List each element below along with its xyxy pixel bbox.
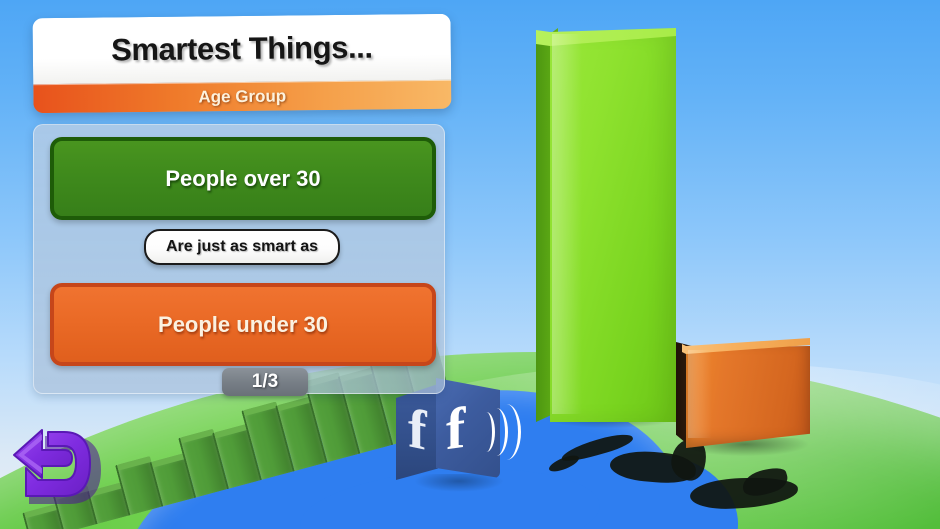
bar-front-face (550, 32, 676, 422)
category-label: Age Group (198, 87, 286, 108)
broadcast-waves-icon (478, 406, 506, 460)
bar-highlight (688, 350, 712, 438)
game-screen: f f Smartest Things... Age Group People … (0, 0, 940, 529)
option-top-label: People over 30 (165, 166, 320, 192)
facebook-share-cube-icon[interactable]: f f (396, 378, 500, 486)
option-button-people-under-30[interactable]: People under 30 (50, 283, 436, 366)
category-bar: Age Group (33, 80, 451, 113)
comparison-connector-badge: Are just as smart as (144, 229, 340, 265)
back-arrow-icon[interactable] (6, 418, 102, 514)
facebook-f-glyph-front: f (446, 399, 465, 460)
option-button-people-over-30[interactable]: People over 30 (50, 137, 436, 220)
page-indicator-label: 1/3 (252, 371, 278, 393)
cube-shadow (414, 474, 504, 492)
page-indicator: 1/3 (222, 368, 308, 396)
bar-chart-bar-under-30 (676, 338, 810, 448)
page-title: Smartest Things... (33, 14, 452, 84)
facebook-f-glyph-left: f (408, 400, 427, 460)
bar-chart-bar-over-30 (536, 28, 676, 422)
page-title-text: Smartest Things... (111, 30, 373, 69)
answer-options-panel: People over 30 Are just as smart as Peop… (33, 124, 445, 394)
connector-label: Are just as smart as (166, 238, 318, 256)
option-bottom-label: People under 30 (158, 312, 328, 338)
question-title-panel: Smartest Things... Age Group (33, 14, 452, 113)
